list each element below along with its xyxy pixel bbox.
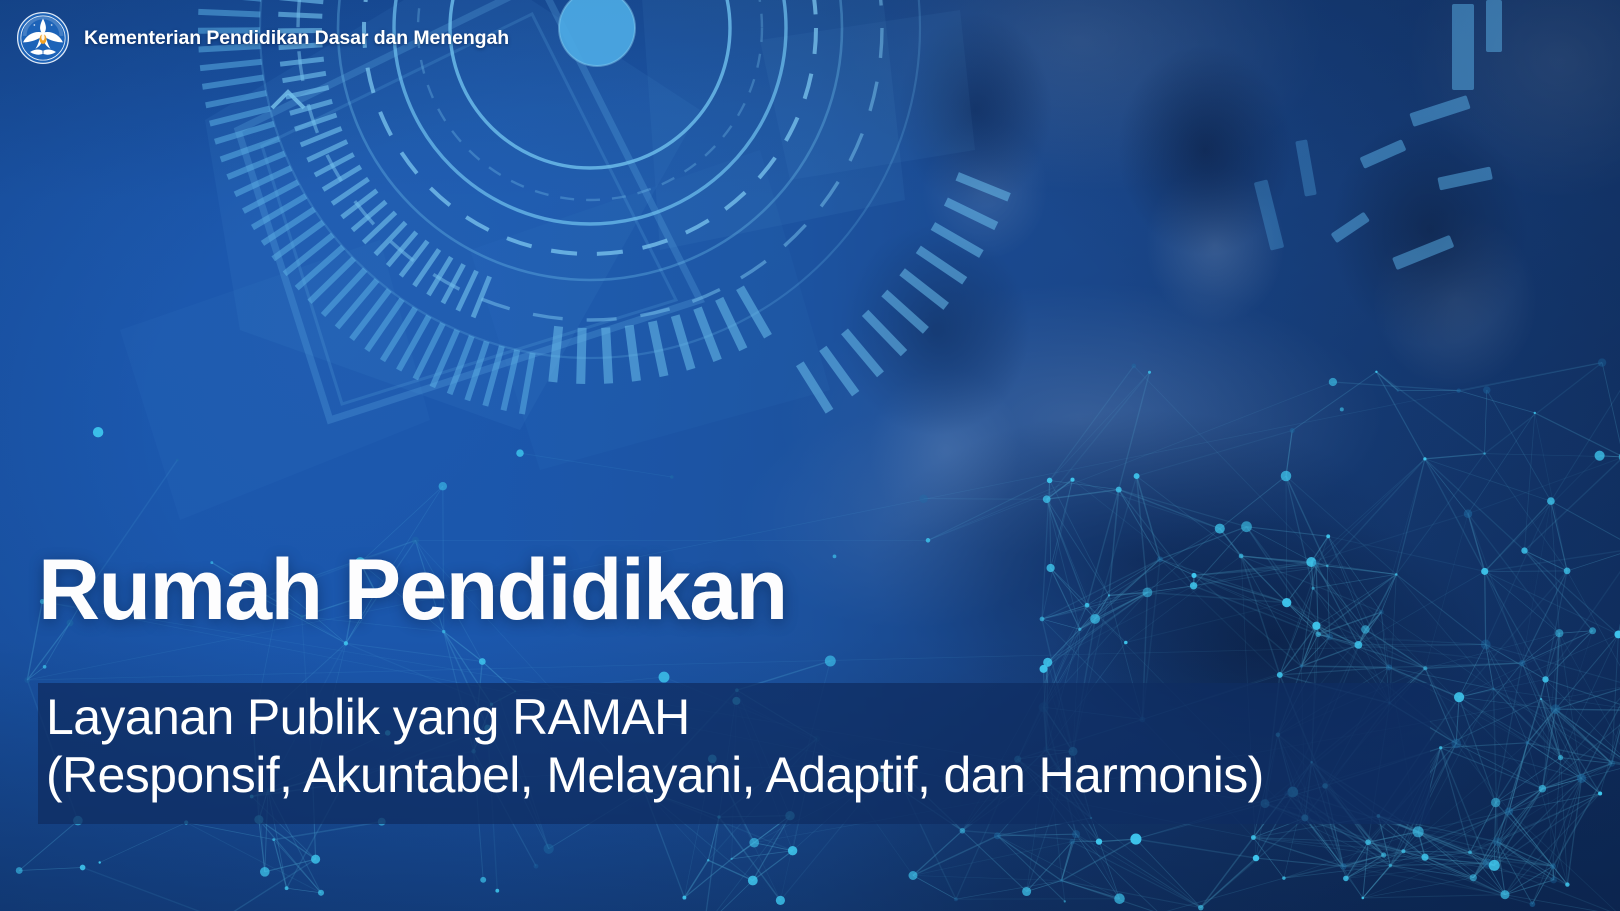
site-header: Kementerian Pendidikan Dasar dan Menenga… <box>0 0 509 76</box>
network-edges <box>19 363 1620 911</box>
ministry-emblem-icon <box>16 11 70 65</box>
network-constellation-graphic <box>0 0 1620 911</box>
ministry-name: Kementerian Pendidikan Dasar dan Menenga… <box>84 27 509 50</box>
banner-root: Kementerian Pendidikan Dasar dan Menenga… <box>0 0 1620 911</box>
